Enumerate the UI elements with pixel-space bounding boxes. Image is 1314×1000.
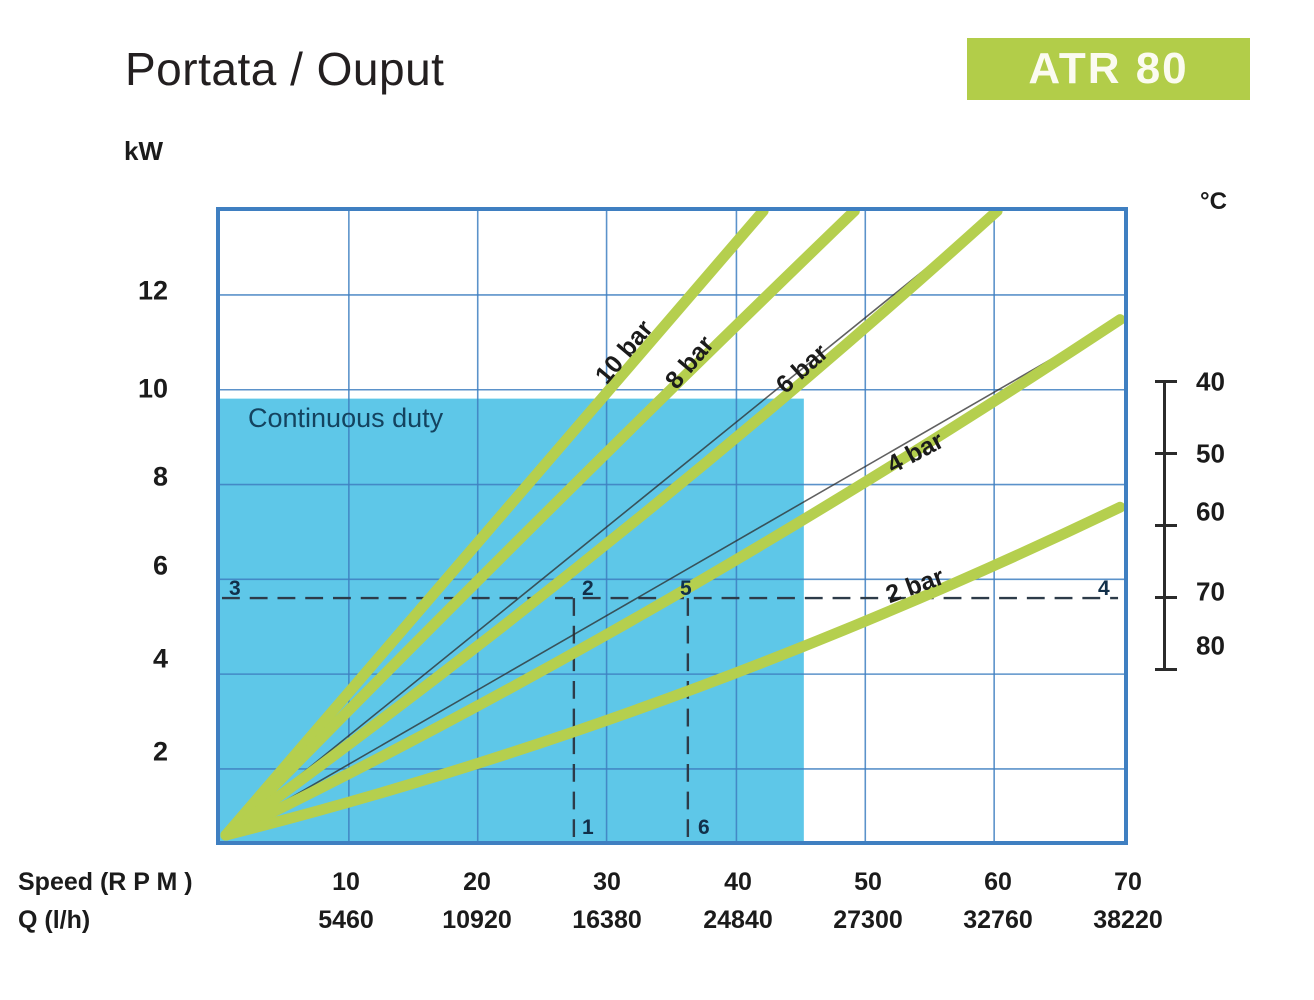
marker-label-2: 2 [582, 577, 594, 601]
marker-label-6: 6 [698, 816, 710, 840]
page-title: Portata / Ouput [125, 42, 444, 96]
marker-label-5: 5 [680, 577, 692, 601]
x-tick-label-20: 20 [412, 868, 542, 897]
y-axis-unit-label: kW [124, 136, 163, 167]
x-tick-label-10: 10 [281, 868, 411, 897]
q-tick-label-16380: 16380 [542, 906, 672, 935]
x-tick-label-40: 40 [673, 868, 803, 897]
x-tick-label-30: 30 [542, 868, 672, 897]
y2-axis-unit-label: °C [1200, 188, 1227, 216]
model-badge: ATR 80 [967, 38, 1250, 100]
q-tick-label-38220: 38220 [1063, 906, 1193, 935]
marker-label-1: 1 [582, 816, 594, 840]
q-tick-label-24840: 24840 [673, 906, 803, 935]
marker-label-4: 4 [1098, 577, 1110, 601]
q-tick-label-27300: 27300 [803, 906, 933, 935]
performance-curves-layer [220, 211, 1124, 841]
chart-plot-area: Continuous duty 3 2 5 4 1 6 10 bar 8 bar… [216, 207, 1128, 845]
model-badge-label: ATR 80 [1028, 47, 1188, 91]
q-tick-label-5460: 5460 [281, 906, 411, 935]
q-tick-label-10920: 10920 [412, 906, 542, 935]
temp-label-80: 80 [1196, 631, 1225, 662]
y-tick-label-2: 2 [108, 737, 168, 768]
q-tick-label-32760: 32760 [933, 906, 1063, 935]
curve-10-bar [226, 211, 763, 835]
temp-tick-60 [1155, 524, 1177, 527]
temp-label-60: 60 [1196, 497, 1225, 528]
x-tick-label-60: 60 [933, 868, 1063, 897]
y-tick-label-8: 8 [108, 462, 168, 493]
temp-tick-80 [1155, 668, 1177, 671]
x-tick-label-70: 70 [1063, 868, 1193, 897]
curve-6-bar [226, 211, 997, 835]
y-tick-label-6: 6 [108, 551, 168, 582]
temp-label-50: 50 [1196, 439, 1225, 470]
x-axis-speed-label: Speed (R P M ) [18, 868, 193, 897]
temp-tick-50 [1155, 452, 1177, 455]
temp-label-70: 70 [1196, 577, 1225, 608]
y-tick-label-10: 10 [108, 374, 168, 405]
temperature-axis [1163, 380, 1178, 670]
continuous-duty-label: Continuous duty [248, 403, 443, 434]
temp-label-40: 40 [1196, 367, 1225, 398]
curve-4-bar [226, 320, 1120, 835]
temp-tick-70 [1155, 596, 1177, 599]
marker-label-3: 3 [229, 577, 241, 601]
y-tick-label-12: 12 [108, 276, 168, 307]
x-axis-flow-label: Q (l/h) [18, 906, 90, 935]
temp-tick-40 [1155, 380, 1177, 383]
y-tick-label-4: 4 [108, 644, 168, 675]
x-tick-label-50: 50 [803, 868, 933, 897]
x-axis-label-block: Speed (R P M ) Q (l/h) 10 20 30 40 50 60… [18, 868, 1198, 948]
